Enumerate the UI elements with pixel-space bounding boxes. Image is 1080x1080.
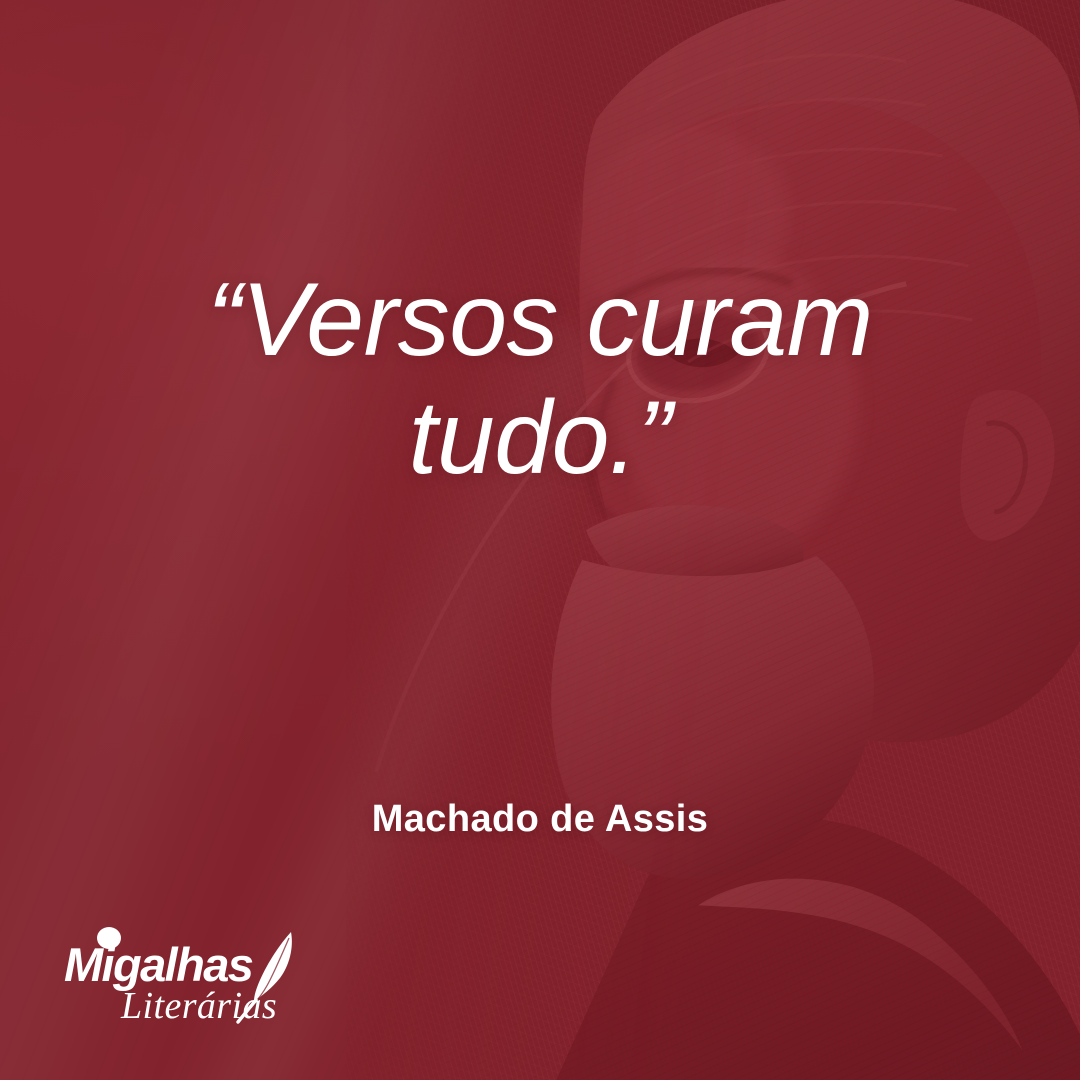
portrait-image xyxy=(346,0,1080,1080)
quote-line-2: tudo.” xyxy=(110,380,970,498)
portrait-tint-overlay xyxy=(346,0,1080,1080)
quote-line-1: “Versos curam xyxy=(110,262,970,380)
logo-secondary-text: Literárias xyxy=(120,985,277,1026)
quote-card: “Versos curam tudo.” Machado de Assis Mi… xyxy=(0,0,1080,1080)
quote-text: “Versos curam tudo.” xyxy=(0,262,1080,497)
portrait-illustration xyxy=(346,0,1080,1080)
logo-primary-text: Migalhas xyxy=(64,938,253,991)
brand-logo-mark: Migalhas Literárias xyxy=(64,926,324,1026)
brand-logo[interactable]: Migalhas Literárias xyxy=(64,926,324,1026)
author-name: Machado de Assis xyxy=(0,798,1080,841)
